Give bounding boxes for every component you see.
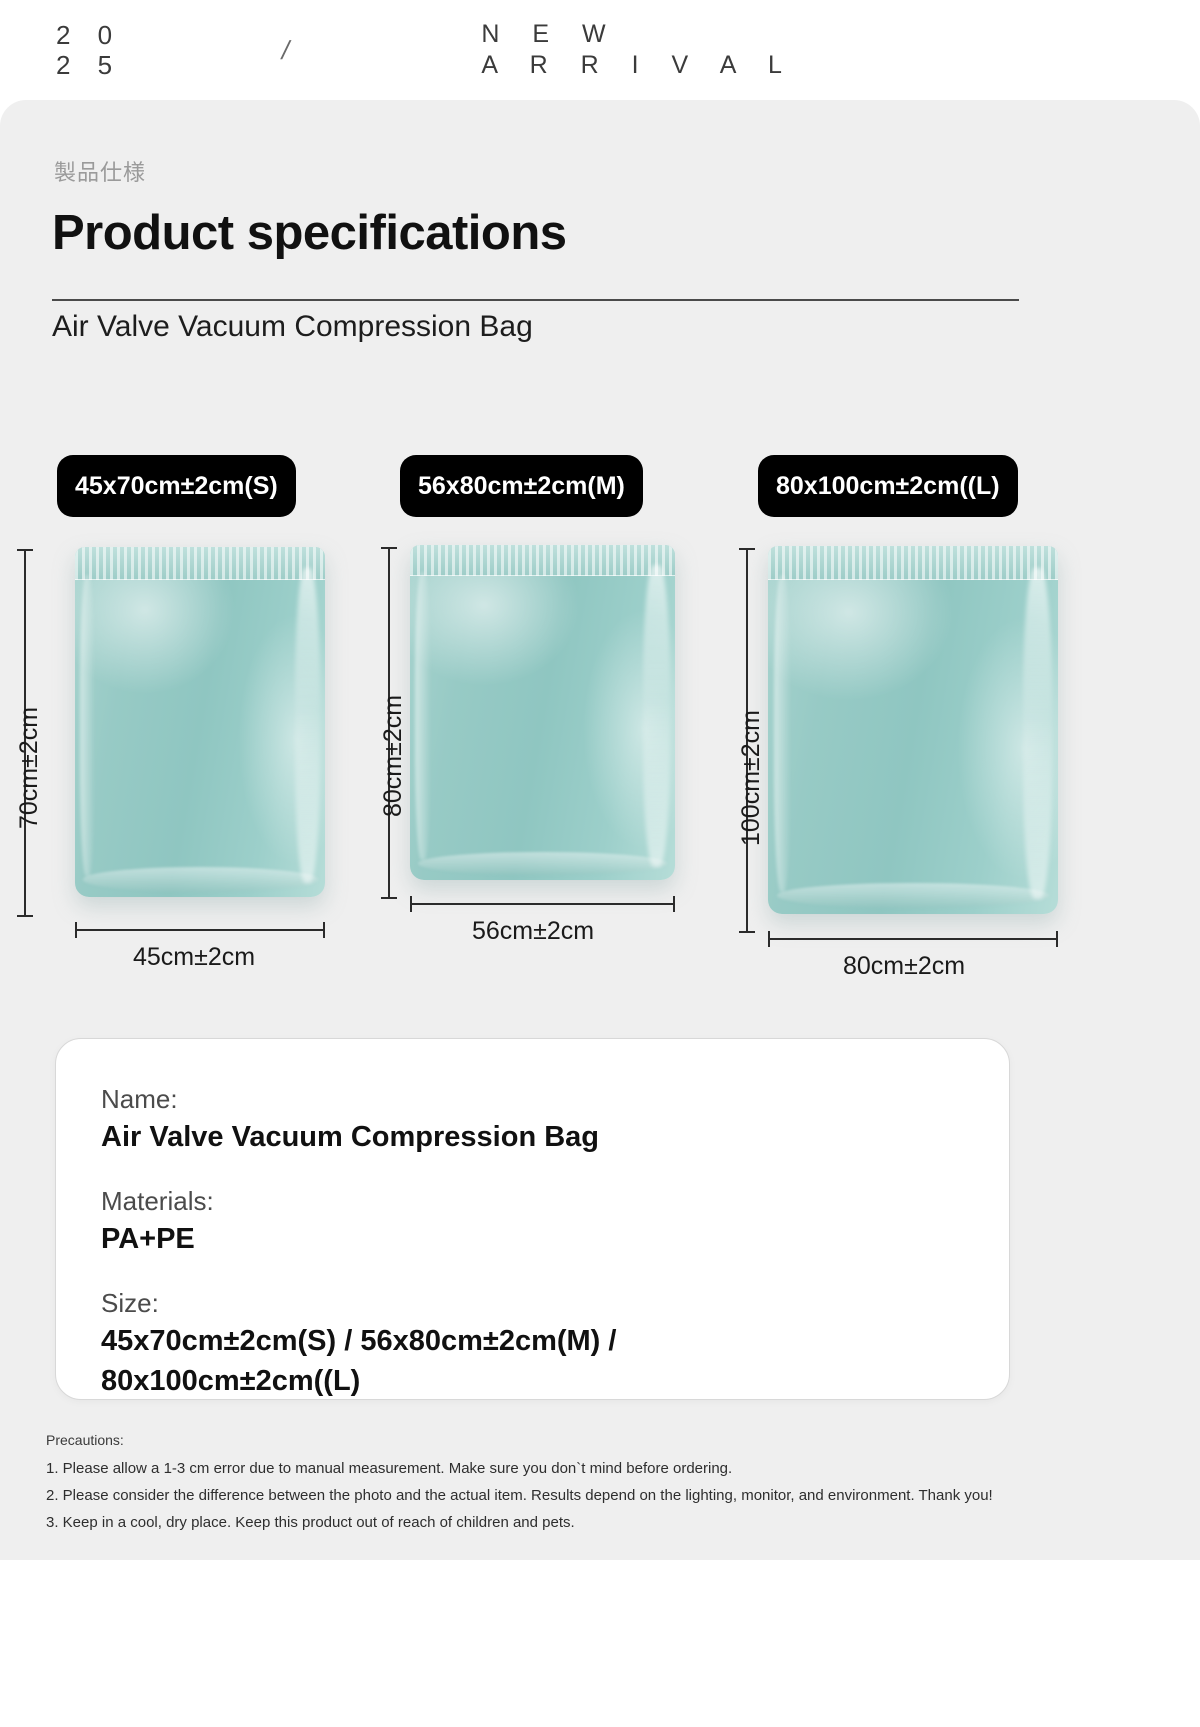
page-subtitle: Air Valve Vacuum Compression Bag <box>52 310 533 344</box>
materials-label: Materials: <box>101 1183 1009 1219</box>
page-header: 2 0 2 5 / N E W A R R I V A L <box>0 0 1200 100</box>
size-label: Size: <box>101 1285 1009 1321</box>
height-label-large: 100cm±2cm <box>737 710 766 846</box>
field-materials: Materials: PA+PE <box>101 1183 1009 1259</box>
precaution-item: 1. Please allow a 1-3 cm error due to ma… <box>46 1455 1046 1482</box>
tag-line-2: A R R I V A L <box>481 50 795 81</box>
product-card-large: 80x100cm±2cm((L) 100cm±2cm 80cm±2cm <box>758 455 1058 914</box>
year-bottom: 2 5 <box>56 50 122 80</box>
width-label-small: 45cm±2cm <box>133 943 255 972</box>
height-label-small: 70cm±2cm <box>15 707 44 829</box>
section-kicker: 製品仕様 <box>54 155 146 187</box>
field-size: Size: 45x70cm±2cm(S) / 56x80cm±2cm(M) / … <box>101 1285 1009 1401</box>
product-card-medium: 56x80cm±2cm(M) 80cm±2cm 56cm±2cm <box>400 455 690 880</box>
name-value: Air Valve Vacuum Compression Bag <box>101 1117 1009 1157</box>
year-stamp: 2 0 2 5 <box>56 20 122 80</box>
width-dimension-line-medium <box>410 903 675 905</box>
tag-line-1: N E W <box>481 19 795 50</box>
title-divider <box>52 299 1019 301</box>
precautions-title: Precautions: <box>46 1432 1046 1448</box>
precaution-item: 2. Please consider the difference betwee… <box>46 1482 1046 1509</box>
product-details-card: Name: Air Valve Vacuum Compression Bag M… <box>55 1038 1010 1400</box>
height-label-medium: 80cm±2cm <box>379 695 408 817</box>
product-size-gallery: 45x70cm±2cm(S) 70cm±2cm 45cm±2cm 56x80cm… <box>0 455 1200 975</box>
new-arrival-tag: N E W A R R I V A L <box>481 19 795 81</box>
materials-value: PA+PE <box>101 1219 1009 1259</box>
size-badge-small: 45x70cm±2cm(S) <box>57 455 296 517</box>
width-dimension-line-large <box>768 938 1058 940</box>
bag-image-medium <box>410 545 675 880</box>
bag-bottom-fold <box>777 883 1050 909</box>
field-name: Name: Air Valve Vacuum Compression Bag <box>101 1081 1009 1157</box>
width-label-large: 80cm±2cm <box>843 952 965 981</box>
bag-image-small <box>75 547 325 897</box>
width-dimension-line-small <box>75 929 325 931</box>
bag-image-large <box>768 546 1058 914</box>
name-label: Name: <box>101 1081 1009 1117</box>
bag-seam <box>415 572 431 860</box>
bag-seam <box>774 575 791 891</box>
year-top: 2 0 <box>56 20 122 50</box>
precautions-section: Precautions: 1. Please allow a 1-3 cm er… <box>46 1432 1046 1536</box>
separator-slash: / <box>279 35 293 66</box>
product-spec-page: 2 0 2 5 / N E W A R R I V A L 製品仕様 Produ… <box>0 0 1200 1727</box>
size-badge-medium: 56x80cm±2cm(M) <box>400 455 643 517</box>
bag-seam <box>80 575 95 876</box>
width-label-medium: 56cm±2cm <box>472 917 594 946</box>
page-title: Product specifications <box>52 205 567 261</box>
size-value: 45x70cm±2cm(S) / 56x80cm±2cm(M) / 80x100… <box>101 1321 801 1401</box>
bag-bottom-fold <box>83 867 318 892</box>
bag-bottom-fold <box>418 852 667 875</box>
product-card-small: 45x70cm±2cm(S) 70cm±2cm 45cm±2cm <box>57 455 337 897</box>
precaution-item: 3. Keep in a cool, dry place. Keep this … <box>46 1509 1046 1536</box>
size-badge-large: 80x100cm±2cm((L) <box>758 455 1018 517</box>
